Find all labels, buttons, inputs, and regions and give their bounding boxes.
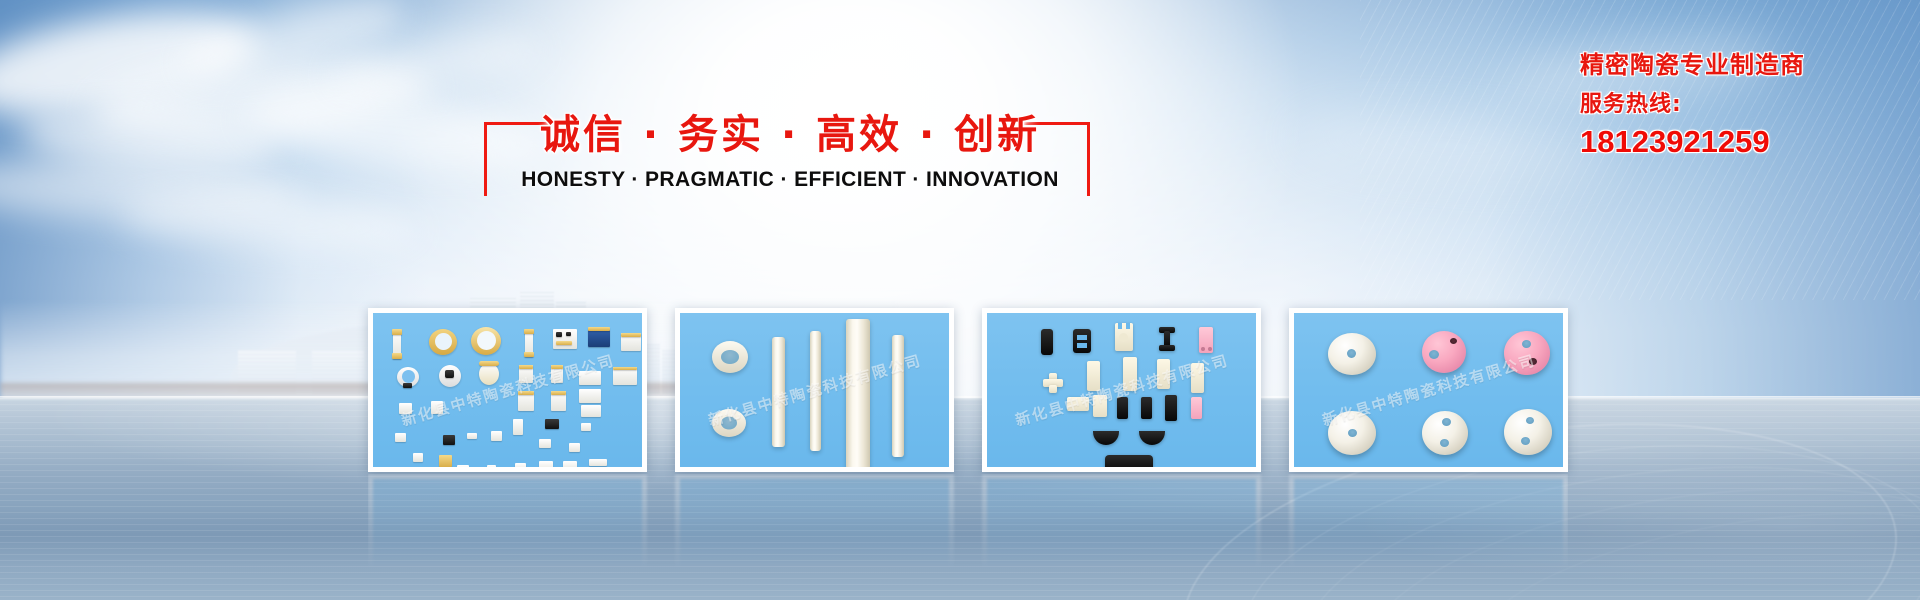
product-image-4: 新化县中特陶瓷科技有限公司: [1294, 313, 1563, 467]
product-image-3: 新化县中特陶瓷科技有限公司: [987, 313, 1256, 467]
product-image-1: 新化县中特陶瓷科技有限公司: [373, 313, 642, 467]
slogan-block: 诚信 · 务实 · 高效 · 创新 HONESTY · PRAGMATIC · …: [0, 100, 1390, 220]
product-panel-1[interactable]: 新化县中特陶瓷科技有限公司: [368, 308, 647, 472]
contact-block: 精密陶瓷专业制造商 服务热线: 18123921259: [1580, 48, 1840, 162]
company-tagline: 精密陶瓷专业制造商: [1580, 48, 1840, 82]
slogan-english: HONESTY · PRAGMATIC · EFFICIENT · INNOVA…: [480, 168, 1100, 192]
hotline-label: 服务热线:: [1580, 90, 1840, 120]
product-panel-3[interactable]: 新化县中特陶瓷科技有限公司: [982, 308, 1261, 472]
product-panel-2[interactable]: 新化县中特陶瓷科技有限公司: [675, 308, 954, 472]
promo-banner: 诚信 · 务实 · 高效 · 创新 HONESTY · PRAGMATIC · …: [0, 0, 1920, 600]
product-panel-4[interactable]: 新化县中特陶瓷科技有限公司: [1289, 308, 1568, 472]
panel-reflections: [368, 474, 1568, 570]
product-image-2: 新化县中特陶瓷科技有限公司: [680, 313, 949, 467]
slogan-chinese: 诚信 · 务实 · 高效 · 创新: [540, 108, 1040, 162]
product-panel-row: 新化县中特陶瓷科技有限公司 新化县中特陶瓷科技有限公司: [368, 308, 1568, 472]
hotline-number[interactable]: 18123921259: [1580, 122, 1840, 162]
